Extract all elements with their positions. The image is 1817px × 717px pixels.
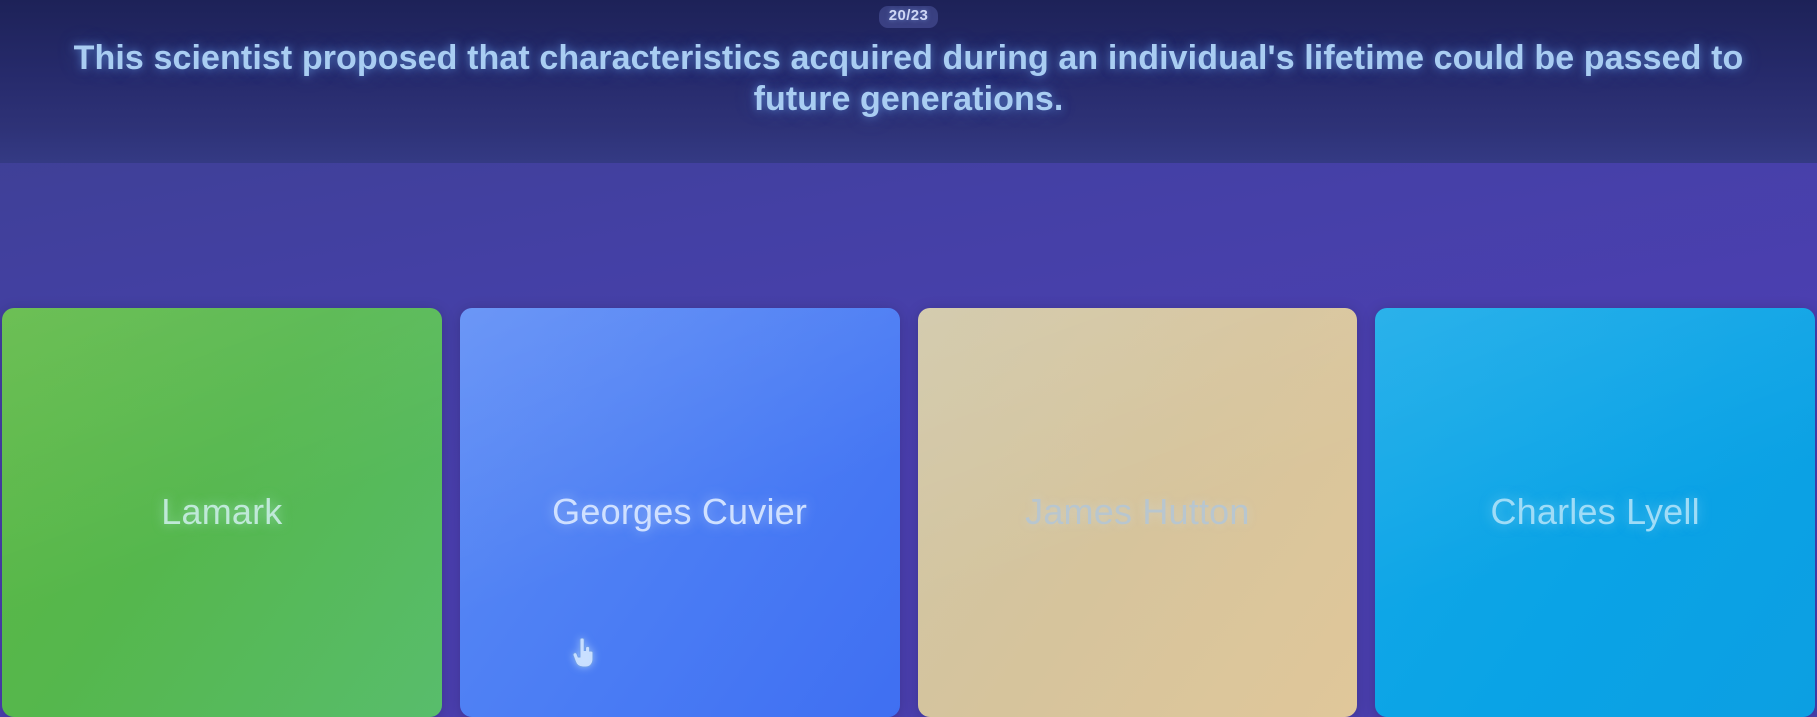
answer-option-4-label: Charles Lyell — [1490, 491, 1699, 533]
answer-options-grid: Lamark Georges Cuvier James Hutton Charl… — [0, 308, 1817, 717]
quiz-screen: 20/23 This scientist proposed that chara… — [0, 0, 1817, 717]
answer-option-1-label: Lamark — [161, 491, 282, 533]
answer-option-1[interactable]: Lamark — [2, 308, 442, 717]
answer-option-2-label: Georges Cuvier — [552, 491, 807, 533]
answer-option-4[interactable]: Charles Lyell — [1375, 308, 1815, 717]
answer-option-2[interactable]: Georges Cuvier — [460, 308, 900, 717]
question-progress-badge: 20/23 — [879, 6, 939, 28]
answer-option-3-label: James Hutton — [1025, 491, 1250, 533]
answer-option-3[interactable]: James Hutton — [918, 308, 1358, 717]
question-prompt: This scientist proposed that characteris… — [59, 38, 1759, 122]
question-header: 20/23 This scientist proposed that chara… — [0, 0, 1817, 163]
